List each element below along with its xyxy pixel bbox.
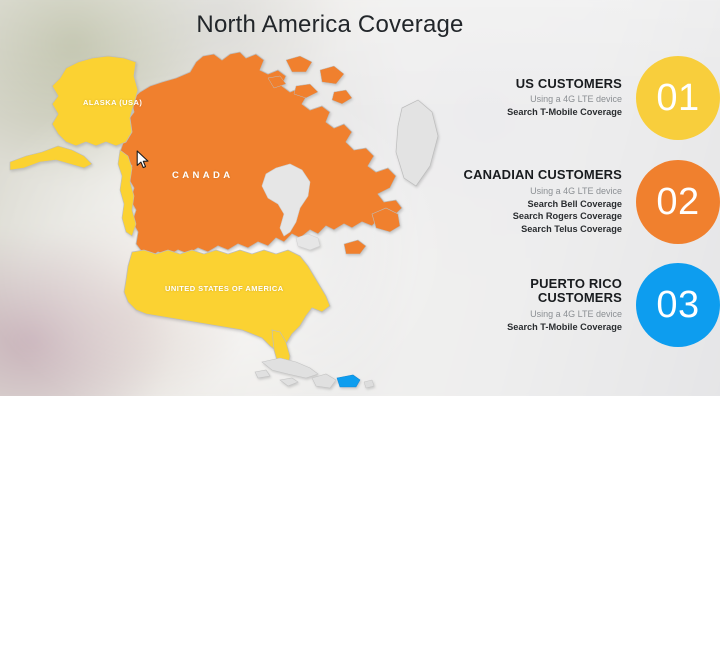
legend-subtitle: Using a 4G LTE device <box>438 186 622 198</box>
aleutian-islands <box>10 146 92 170</box>
legend-badge-02: 02 <box>636 160 720 244</box>
lesser-antilles <box>364 380 374 388</box>
legend-badge-01: 01 <box>636 56 720 140</box>
legend-link[interactable]: Search T-Mobile Coverage <box>438 106 622 119</box>
mouse-pointer-icon <box>136 150 150 175</box>
legend-subtitle: Using a 4G LTE device <box>438 309 622 321</box>
map-region-puerto-rico <box>337 375 360 387</box>
legend-link[interactable]: Search Telus Coverage <box>438 223 622 236</box>
legend-text-block: US CUSTOMERS Using a 4G LTE device Searc… <box>438 77 636 119</box>
caribbean-islands <box>255 358 336 388</box>
legend-title-line1: PUERTO RICO <box>438 277 622 292</box>
map-region-alaska <box>52 56 138 146</box>
legend-link[interactable]: Search Bell Coverage <box>438 198 622 211</box>
legend-text-block: CANADIAN CUSTOMERS Using a 4G LTE device… <box>438 168 636 235</box>
legend-subtitle: Using a 4G LTE device <box>438 94 622 106</box>
legend-link[interactable]: Search Rogers Coverage <box>438 210 622 223</box>
page-root: North America Coverage <box>0 0 720 670</box>
legend-title: CANADIAN CUSTOMERS <box>438 168 622 183</box>
legend-item-puerto-rico-customers[interactable]: PUERTO RICO CUSTOMERS Using a 4G LTE dev… <box>420 263 720 347</box>
nova-scotia <box>344 240 366 254</box>
legend-title: US CUSTOMERS <box>438 77 622 92</box>
map-region-canada <box>120 52 402 258</box>
legend-item-canadian-customers[interactable]: CANADIAN CUSTOMERS Using a 4G LTE device… <box>420 160 720 244</box>
legend-badge-03: 03 <box>636 263 720 347</box>
map-region-united-states <box>124 250 330 352</box>
legend-item-us-customers[interactable]: US CUSTOMERS Using a 4G LTE device Searc… <box>420 56 720 140</box>
legend-text-block: PUERTO RICO CUSTOMERS Using a 4G LTE dev… <box>438 277 636 334</box>
page-title: North America Coverage <box>0 11 660 39</box>
coverage-map <box>0 0 440 396</box>
legend-title-line2: CUSTOMERS <box>438 291 622 306</box>
legend-link[interactable]: Search T-Mobile Coverage <box>438 321 622 334</box>
